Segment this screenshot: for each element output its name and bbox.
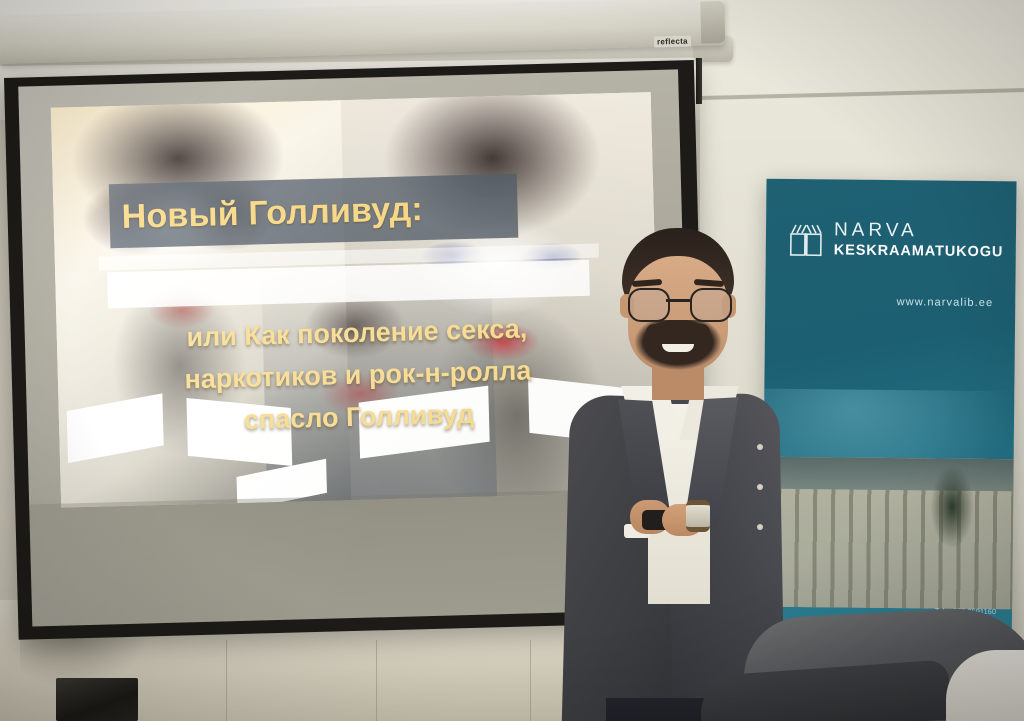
library-rollup-banner: NARVA KESKRAAMATUKOGU www.narvalib.ee Te… [761,179,1016,668]
screen-support-rod [696,58,702,104]
shirt-button [757,484,763,490]
lens-left [628,288,670,322]
banner-tree-photo [922,448,981,569]
wall-panel-seam [530,640,531,721]
mouth [662,344,694,352]
banner-brand: NARVA KESKRAAMATUKOGU [834,219,1004,262]
open-book-logo [788,223,824,257]
banner-brand-line-1: NARVA [834,219,1004,243]
presenter [566,228,782,721]
wall-panel-seam [226,640,227,721]
slide-subtitle: или Как поколение секса, наркотиков и ро… [78,305,637,446]
wristwatch [686,500,710,532]
banner-website-url: www.narvalib.ee [897,296,994,309]
eyeglasses [624,288,732,318]
banner-brand-line-2: KESKRAAMATUKOGU [834,241,1004,262]
lens-right [690,288,732,322]
glasses-bridge [666,299,690,302]
presentation-room-photo: reflecta Новый Голливуд: или Как поколен… [0,0,1024,721]
slide-title: Новый Голливуд: [121,180,522,244]
housing-end-cap [700,1,725,44]
shirt-button [757,524,763,530]
reflecta-brand-label: reflecta [654,36,691,48]
floor-speaker-box [56,678,138,721]
wall-panel-seam [376,640,377,721]
moustache [646,324,710,340]
shirt-button [757,444,763,450]
